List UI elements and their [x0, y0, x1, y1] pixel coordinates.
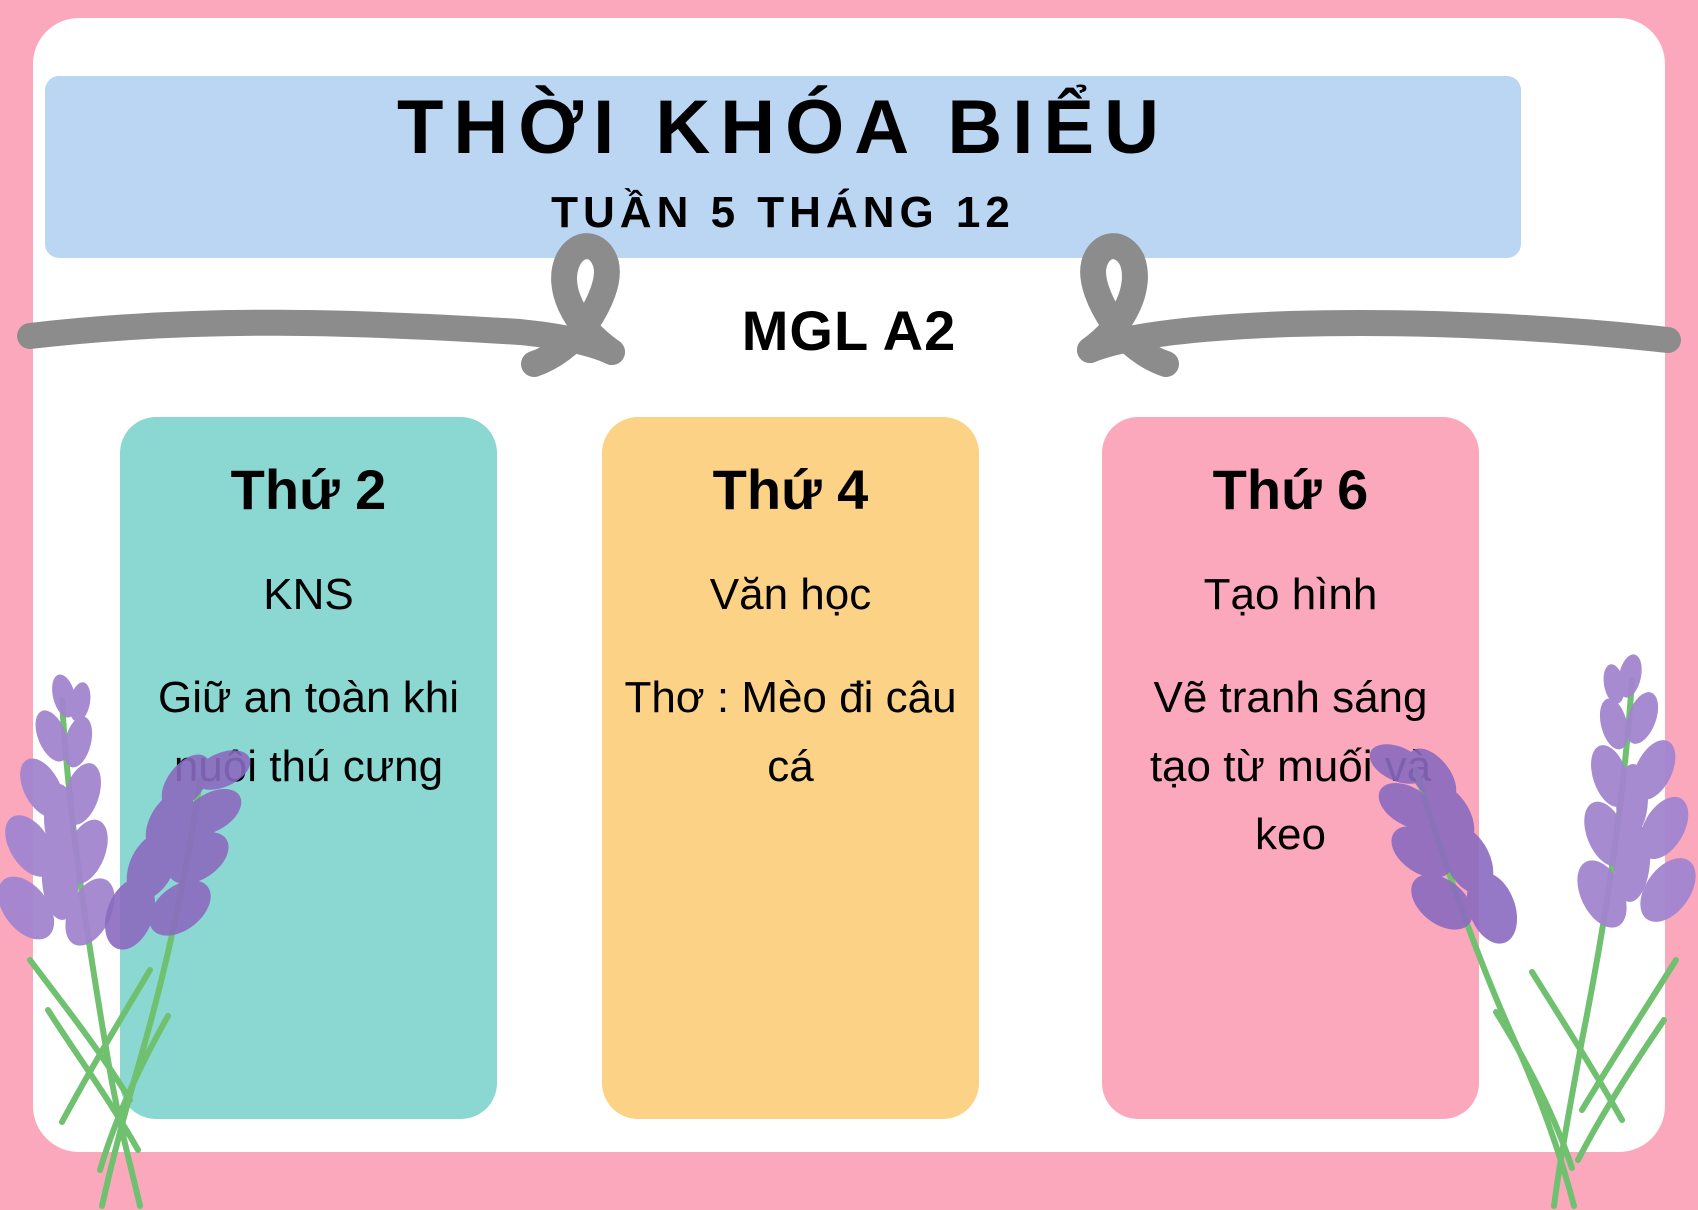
day-card-detail: Vẽ tranh sáng tạo từ muối và keo	[1120, 664, 1461, 869]
schedule-poster: THỜI KHÓA BIỂU TUẦN 5 THÁNG 12 MGL A2 Th…	[0, 0, 1698, 1200]
day-card-subject: Tạo hình	[1120, 570, 1461, 621]
page-title: THỜI KHÓA BIỂU	[45, 84, 1521, 171]
day-card-subject: Văn học	[620, 570, 961, 621]
day-card-title: Thứ 4	[620, 461, 961, 520]
day-card-subject: KNS	[138, 570, 479, 621]
day-card-wednesday[interactable]: Thứ 4 Văn học Thơ : Mèo đi câu cá	[602, 417, 979, 1119]
page-subtitle: TUẦN 5 THÁNG 12	[45, 188, 1521, 238]
header-band: THỜI KHÓA BIỂU TUẦN 5 THÁNG 12	[45, 76, 1521, 258]
day-card-detail: Giữ an toàn khi nuôi thú cưng	[138, 664, 479, 800]
day-card-monday[interactable]: Thứ 2 KNS Giữ an toàn khi nuôi thú cưng	[120, 417, 497, 1119]
day-card-friday[interactable]: Thứ 6 Tạo hình Vẽ tranh sáng tạo từ muối…	[1102, 417, 1479, 1119]
day-cards: Thứ 2 KNS Giữ an toàn khi nuôi thú cưng …	[0, 417, 1698, 1119]
day-card-title: Thứ 6	[1120, 461, 1461, 520]
day-card-detail: Thơ : Mèo đi câu cá	[620, 664, 961, 800]
day-card-title: Thứ 2	[138, 461, 479, 520]
class-label: MGL A2	[0, 298, 1698, 363]
